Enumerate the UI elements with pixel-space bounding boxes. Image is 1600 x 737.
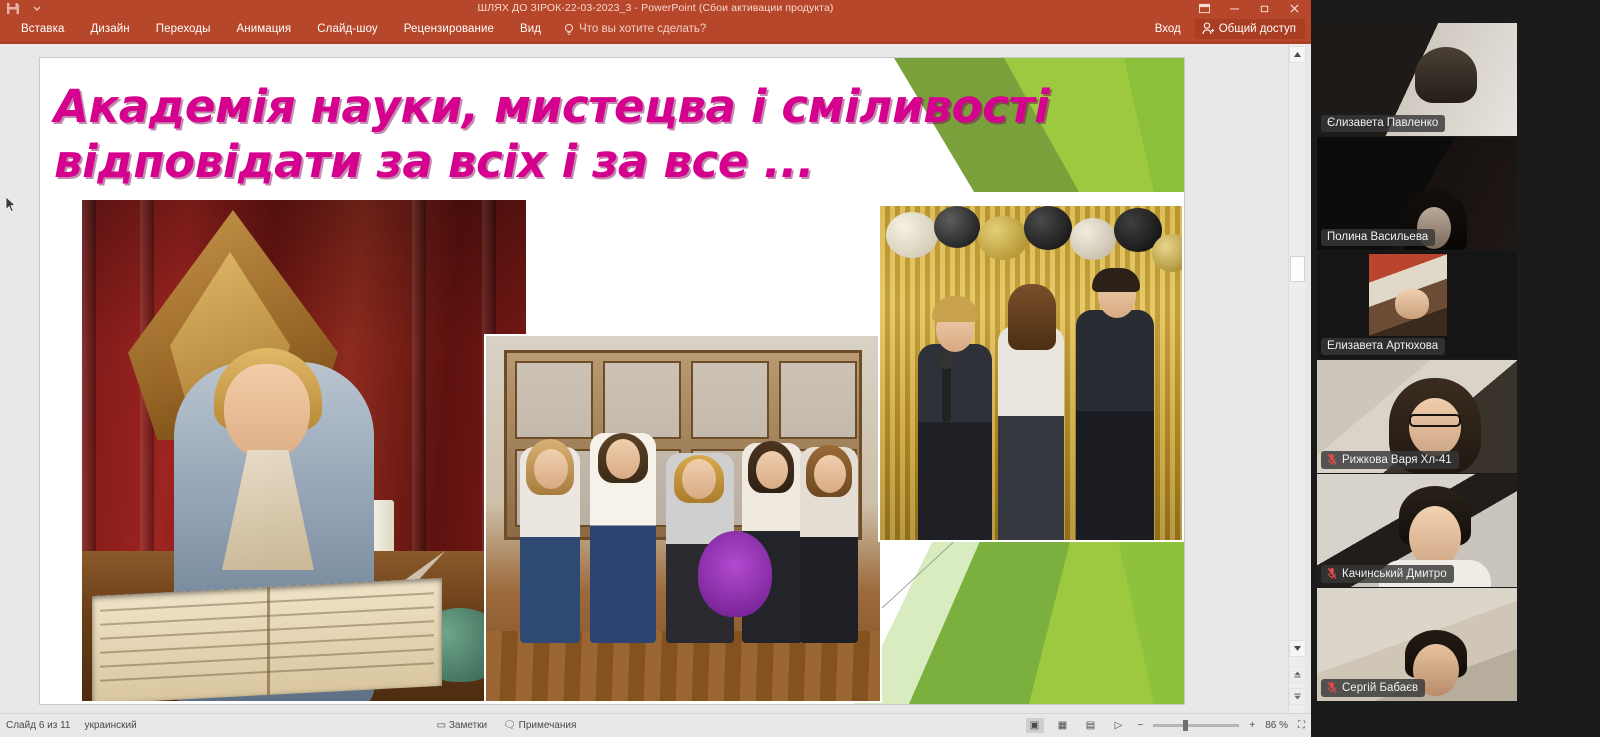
participant-name-5: Качинський Дмитро	[1342, 568, 1447, 580]
participant-name-badge-1: Єлизавета Павленко	[1321, 115, 1445, 132]
notes-label: Заметки	[449, 720, 487, 731]
tab-vid[interactable]: Вид	[507, 21, 554, 38]
status-right: ▣ ▦ ▤ ▷ − + 86 % ⛶	[1026, 718, 1305, 733]
notes-button[interactable]: ▭ Заметки	[437, 720, 487, 731]
participant-name-badge-5: Качинський Дмитро	[1321, 565, 1454, 583]
comments-label: Примечания	[519, 720, 577, 731]
participant-tile-4[interactable]: Рижкова Варя Хл-41	[1317, 360, 1517, 473]
share-label: Общий доступ	[1219, 23, 1296, 35]
participant-tile-5[interactable]: Качинський Дмитро	[1317, 474, 1517, 587]
participant-glasses-4	[1409, 414, 1461, 427]
window-controls[interactable]	[1189, 0, 1309, 17]
scrollbar-thumb[interactable]	[1290, 256, 1305, 282]
participant-name-3: Елизавета Артюхова	[1327, 340, 1438, 352]
slide-title-line-1: Академія науки, мистецва і сміливості	[54, 80, 1144, 135]
ribbon-tab-strip: Вставка Дизайн Переходы Анимация Слайд-ш…	[0, 17, 1311, 41]
comments-button[interactable]: 🗨 Примечания	[503, 720, 576, 731]
slide-sorter-view-button[interactable]: ▦	[1054, 718, 1072, 733]
participant-name-4: Рижкова Варя Хл-41	[1342, 454, 1452, 466]
slide-title[interactable]: Академія науки, мистецва і сміливості ві…	[54, 80, 1144, 190]
screen-root: ШЛЯХ ДО ЗІРОК-22-03-2023_3 - PowerPoint …	[0, 0, 1600, 737]
ribbon-display-options-button[interactable]	[1189, 0, 1219, 17]
scroll-down-icon[interactable]	[1289, 640, 1306, 657]
participant-name-badge-2: Полина Васильева	[1321, 229, 1435, 246]
powerpoint-window: ШЛЯХ ДО ЗІРОК-22-03-2023_3 - PowerPoint …	[0, 0, 1311, 737]
zoom-in-button[interactable]: +	[1249, 720, 1255, 731]
tab-perekhody[interactable]: Переходы	[143, 21, 224, 38]
slide-title-line-2: відповідати за всіх і за все ...	[54, 135, 1144, 190]
lightbulb-icon	[564, 23, 574, 36]
tab-vstavka[interactable]: Вставка	[8, 21, 77, 38]
sign-in-button[interactable]: Вход	[1155, 23, 1181, 35]
account-area: Вход Общий доступ	[1155, 17, 1305, 41]
fit-slide-button[interactable]: ⛶	[1298, 720, 1305, 731]
tell-me-search[interactable]: Что вы хотите сделать?	[564, 23, 706, 36]
microphone-muted-icon	[1327, 453, 1337, 466]
participant-tile-6[interactable]: Сергій Бабаєв	[1317, 588, 1517, 701]
participant-name-badge-4: Рижкова Варя Хл-41	[1321, 451, 1459, 469]
share-button[interactable]: Общий доступ	[1195, 19, 1305, 39]
status-middle: ▭ Заметки 🗨 Примечания	[437, 720, 577, 731]
zoom-level[interactable]: 86 %	[1265, 720, 1288, 731]
participant-name-2: Полина Васильева	[1327, 231, 1428, 243]
participant-name-1: Єлизавета Павленко	[1327, 117, 1438, 129]
editing-canvas: Академія науки, мистецва і сміливості ві…	[0, 44, 1311, 737]
normal-view-button[interactable]: ▣	[1026, 718, 1044, 733]
microphone-muted-icon	[1327, 681, 1337, 694]
window-title: ШЛЯХ ДО ЗІРОК-22-03-2023_3 - PowerPoint …	[0, 0, 1311, 17]
tab-slide-show[interactable]: Слайд-шоу	[304, 21, 391, 38]
notes-icon: ▭	[437, 720, 446, 731]
minimize-button[interactable]	[1219, 0, 1249, 17]
slide-show-view-button[interactable]: ▷	[1110, 718, 1128, 733]
language-indicator[interactable]: украинский	[85, 720, 137, 731]
photo-woman-with-quill[interactable]	[80, 198, 528, 703]
status-left: Слайд 6 из 11 украинский	[6, 720, 137, 731]
person-add-icon	[1202, 22, 1214, 35]
tell-me-placeholder: Что вы хотите сделать?	[579, 23, 706, 35]
tab-retsenzirovanie[interactable]: Рецензирование	[391, 21, 507, 38]
participant-face-3	[1395, 289, 1429, 319]
participant-name-6: Сергій Бабаєв	[1342, 682, 1418, 694]
comment-icon: 🗨	[503, 720, 516, 731]
zoom-out-button[interactable]: −	[1138, 720, 1144, 731]
participant-tile-1[interactable]: Єлизавета Павленко	[1317, 23, 1517, 136]
next-slide-button[interactable]	[1289, 688, 1306, 705]
reading-view-button[interactable]: ▤	[1082, 718, 1100, 733]
title-bar: ШЛЯХ ДО ЗІРОК-22-03-2023_3 - PowerPoint …	[0, 0, 1311, 17]
photo-award-ceremony[interactable]	[878, 204, 1184, 542]
participant-tile-2[interactable]: Полина Васильева	[1317, 137, 1517, 250]
zoom-slider-knob[interactable]	[1183, 720, 1188, 731]
photo-students-group[interactable]	[484, 334, 882, 703]
microphone-muted-icon	[1327, 567, 1337, 580]
tab-animatsiya[interactable]: Анимация	[223, 21, 304, 38]
participant-hair-1	[1415, 47, 1477, 103]
participant-face-4	[1409, 398, 1461, 456]
close-button[interactable]	[1279, 0, 1309, 17]
participant-face-5	[1409, 506, 1461, 568]
participant-tile-3[interactable]: Елизавета Артюхова	[1317, 251, 1517, 359]
slide-surface[interactable]: Академія науки, мистецва і сміливості ві…	[40, 58, 1184, 704]
tab-dizain[interactable]: Дизайн	[77, 21, 142, 38]
participant-name-badge-6: Сергій Бабаєв	[1321, 679, 1425, 697]
scroll-up-icon[interactable]	[1289, 46, 1306, 63]
restore-button[interactable]	[1249, 0, 1279, 17]
participant-name-badge-3: Елизавета Артюхова	[1321, 338, 1445, 355]
slide-pane-scrollbar[interactable]	[1288, 44, 1305, 737]
previous-slide-button[interactable]	[1289, 666, 1306, 683]
slide-indicator[interactable]: Слайд 6 из 11	[6, 720, 71, 731]
zoom-slider[interactable]	[1153, 724, 1239, 727]
mouse-cursor	[5, 196, 17, 214]
video-participants-panel: Єлизавета Павленко Полина Васильева Елиз…	[1311, 0, 1600, 737]
status-bar: Слайд 6 из 11 украинский ▭ Заметки 🗨 При…	[0, 713, 1311, 737]
